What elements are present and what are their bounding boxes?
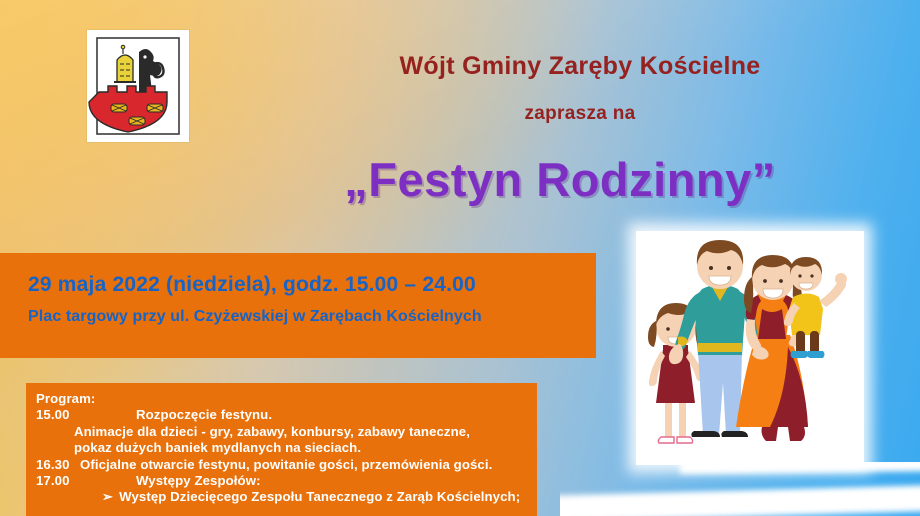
program-text: Występy Zespołów: [80,473,261,488]
program-text: Występ Dziecięcego Zespołu Tanecznego z … [119,489,520,504]
event-title: „Festyn Rodzinny” [200,152,920,207]
program-row: ➢Występ Dziecięcego Zespołu Tanecznego z… [26,489,537,505]
program-text: Oficjalne otwarcie festynu, powitanie go… [80,457,492,472]
date-location-banner: 29 maja 2022 (niedziela), godz. 15.00 – … [0,253,596,358]
program-time: 17.00 [36,473,80,489]
program-heading: Program: [26,391,537,407]
event-location: Plac targowy przy ul. Czyżewskiej w Zarę… [28,308,482,326]
coat-of-arms-crest [87,30,189,142]
program-box: Program: 15.00Rozpoczęcie festynu. Anima… [26,383,537,516]
program-text: Rozpoczęcie festynu. [80,407,272,422]
invitation-subtitle: zaprasza na [240,103,920,125]
program-text: pokaz dużych baniek mydlanych na sieciac… [74,440,361,455]
family-illustration [636,231,864,465]
program-time: 16.30 [36,457,80,473]
program-row: Animacje dla dzieci - gry, zabawy, konbu… [26,424,537,440]
program-text: Animacje dla dzieci - gry, zabawy, konbu… [74,424,470,439]
program-row: 17.00Występy Zespołów: [26,473,537,489]
program-row: 15.00Rozpoczęcie festynu. [26,407,537,423]
event-date-time: 29 maja 2022 (niedziela), godz. 15.00 – … [28,273,476,297]
page-title: Wójt Gminy Zaręby Kościelne [240,52,920,81]
program-row: 16.30Oficjalne otwarcie festynu, powitan… [26,457,537,473]
bullet-arrow-icon: ➢ [102,489,113,504]
festival-poster: Wójt Gminy Zaręby Kościelne zaprasza na … [0,0,920,516]
program-row: pokaz dużych baniek mydlanych na sieciac… [26,440,537,456]
program-time: 15.00 [36,407,80,423]
